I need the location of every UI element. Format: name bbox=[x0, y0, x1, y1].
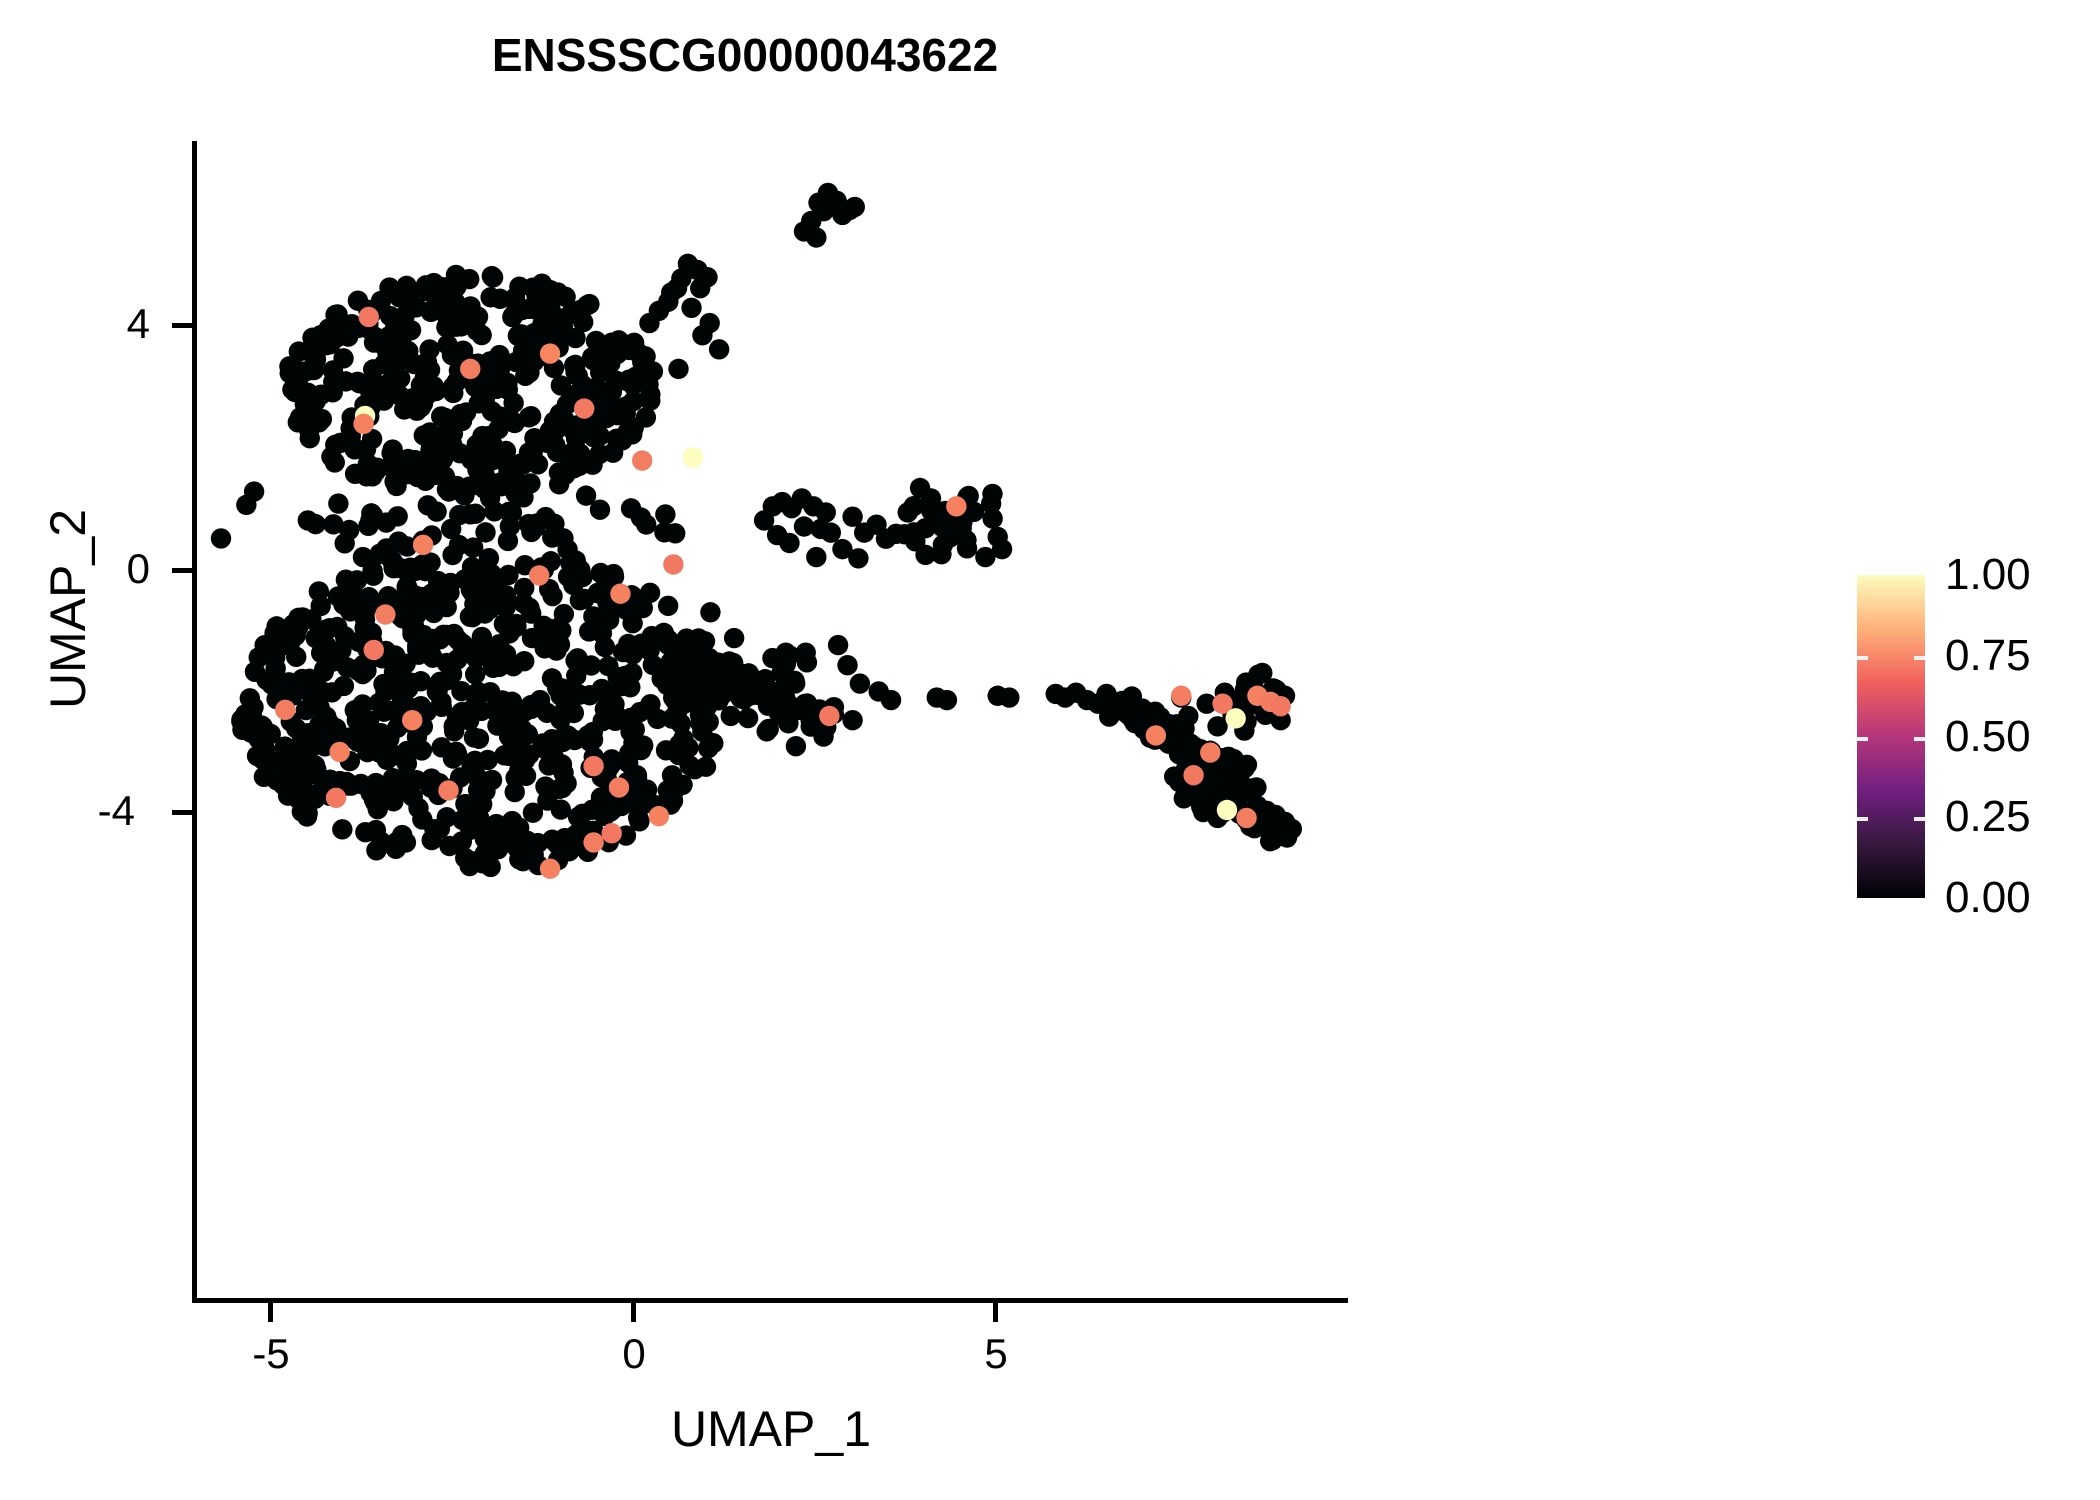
scatter-point bbox=[430, 672, 450, 692]
scatter-point bbox=[933, 535, 953, 555]
scatter-point bbox=[848, 548, 868, 568]
colorbar-tick-mark bbox=[1857, 737, 1868, 741]
scatter-point bbox=[607, 705, 627, 725]
scatter-point bbox=[702, 733, 722, 753]
scatter-point bbox=[1207, 716, 1227, 736]
scatter-point bbox=[415, 471, 435, 491]
scatter-point-highlighted bbox=[326, 788, 346, 808]
scatter-point bbox=[363, 505, 383, 525]
scatter-point bbox=[273, 775, 293, 795]
y-axis-ticks bbox=[172, 326, 194, 813]
scatter-point bbox=[325, 305, 345, 325]
scatter-point-highlighted bbox=[1183, 765, 1203, 785]
scatter-point bbox=[624, 333, 644, 353]
scatter-point bbox=[319, 618, 339, 638]
scatter-point-highlighted bbox=[438, 780, 458, 800]
scatter-point bbox=[447, 706, 467, 726]
scatter-point bbox=[850, 673, 870, 693]
scatter-point bbox=[513, 487, 533, 507]
colorbar-tick-mark bbox=[1857, 817, 1868, 821]
scatter-point bbox=[813, 201, 833, 221]
scatter-point bbox=[392, 327, 412, 347]
scatter-point bbox=[626, 366, 646, 386]
y-tick-label-4: 4 bbox=[60, 300, 150, 348]
scatter-point bbox=[409, 739, 429, 759]
scatter-point bbox=[465, 664, 485, 684]
scatter-point bbox=[557, 539, 577, 559]
scatter-point bbox=[411, 397, 431, 417]
scatter-point bbox=[412, 554, 432, 574]
scatter-point bbox=[549, 321, 569, 341]
scatter-point bbox=[658, 596, 678, 616]
scatter-point bbox=[363, 359, 383, 379]
x-tick-label-minus5: -5 bbox=[211, 1330, 331, 1378]
scatter-point bbox=[364, 789, 384, 809]
scatter-point-highlighted bbox=[1217, 800, 1237, 820]
scatter-point bbox=[552, 778, 572, 798]
scatter-point bbox=[637, 779, 657, 799]
scatter-point bbox=[245, 662, 265, 682]
scatter-point bbox=[419, 339, 439, 359]
scatter-point bbox=[738, 708, 758, 728]
scatter-point bbox=[439, 836, 459, 856]
scatter-point bbox=[797, 652, 817, 672]
scatter-point bbox=[505, 768, 525, 788]
scatter-point bbox=[591, 787, 611, 807]
scatter-point bbox=[316, 636, 336, 656]
scatter-point bbox=[679, 680, 699, 700]
scatter-point bbox=[452, 810, 472, 830]
scatter-point-highlighted bbox=[353, 414, 373, 434]
scatter-point bbox=[665, 523, 685, 543]
scatter-point bbox=[842, 710, 862, 730]
scatter-point bbox=[754, 510, 774, 530]
scatter-point bbox=[358, 454, 378, 474]
scatter-point bbox=[513, 851, 533, 871]
scatter-point bbox=[316, 327, 336, 347]
x-tick-label-0: 0 bbox=[574, 1330, 694, 1378]
scatter-point bbox=[468, 682, 488, 702]
scatter-point bbox=[332, 819, 352, 839]
scatter-point bbox=[498, 379, 518, 399]
scatter-point bbox=[462, 851, 482, 871]
scatter-point bbox=[313, 682, 333, 702]
scatter-point bbox=[530, 690, 550, 710]
scatter-point bbox=[467, 459, 487, 479]
scatter-point bbox=[302, 764, 322, 784]
scatter-point-highlighted bbox=[364, 640, 384, 660]
scatter-point bbox=[482, 401, 502, 421]
scatter-point bbox=[636, 407, 656, 427]
scatter-point bbox=[502, 307, 522, 327]
scatter-point bbox=[261, 724, 281, 744]
scatter-point bbox=[528, 833, 548, 853]
scatter-point bbox=[340, 431, 360, 451]
scatter-point bbox=[570, 590, 590, 610]
scatter-point bbox=[373, 674, 393, 694]
scatter-point bbox=[545, 435, 565, 455]
scatter-point-highlighted bbox=[583, 756, 603, 776]
scatter-point bbox=[999, 687, 1019, 707]
scatter-point bbox=[387, 506, 407, 526]
scatter-point bbox=[364, 332, 384, 352]
scatter-point bbox=[606, 370, 626, 390]
scatter-point-highlighted bbox=[358, 307, 378, 327]
colorbar-tick-mark bbox=[1914, 737, 1925, 741]
scatter-point bbox=[526, 286, 546, 306]
scatter-point bbox=[303, 728, 323, 748]
scatter-point bbox=[390, 385, 410, 405]
scatter-point bbox=[298, 510, 318, 530]
scatter-point bbox=[806, 227, 826, 247]
scatter-point bbox=[570, 654, 590, 674]
colorbar-legend: 1.00 0.75 0.50 0.25 0.00 bbox=[1857, 575, 2097, 905]
scatter-point bbox=[488, 839, 508, 859]
scatter-point bbox=[602, 749, 622, 769]
scatter-point bbox=[786, 736, 806, 756]
scatter-point bbox=[708, 690, 728, 710]
scatter-point bbox=[643, 655, 663, 675]
scatter-point bbox=[460, 504, 480, 524]
scatter-point bbox=[494, 614, 514, 634]
scatter-point bbox=[383, 282, 403, 302]
scatter-point bbox=[424, 273, 444, 293]
scatter-point bbox=[448, 630, 468, 650]
y-axis-title: UMAP_2 bbox=[39, 479, 97, 739]
scatter-point bbox=[424, 819, 444, 839]
scatter-point bbox=[499, 726, 519, 746]
scatter-point bbox=[572, 567, 592, 587]
scatter-point bbox=[334, 676, 354, 696]
scatter-point bbox=[549, 474, 569, 494]
y-tick-label-minus4: -4 bbox=[45, 787, 135, 835]
scatter-point bbox=[469, 729, 489, 749]
scatter-point bbox=[898, 502, 918, 522]
scatter-point bbox=[386, 839, 406, 859]
x-tick-label-5: 5 bbox=[936, 1330, 1056, 1378]
scatter-point-highlighted bbox=[583, 832, 603, 852]
scatter-point-highlighted bbox=[946, 496, 966, 516]
scatter-point-highlighted bbox=[540, 343, 560, 363]
legend-label-1-00: 1.00 bbox=[1945, 550, 2031, 600]
scatter-point bbox=[635, 635, 655, 655]
scatter-point bbox=[639, 313, 659, 333]
scatter-point-highlighted bbox=[574, 398, 594, 418]
scatter-point bbox=[328, 493, 348, 513]
scatter-point bbox=[471, 325, 491, 345]
scatter-point bbox=[672, 775, 692, 795]
scatter-point bbox=[280, 631, 300, 651]
scatter-point bbox=[355, 822, 375, 842]
scatter-point bbox=[700, 602, 720, 622]
scatter-point bbox=[573, 312, 593, 332]
scatter-point bbox=[795, 694, 815, 714]
scatter-point-highlighted bbox=[275, 700, 295, 720]
scatter-point bbox=[389, 782, 409, 802]
scatter-point bbox=[544, 747, 564, 767]
scatter-point bbox=[304, 360, 324, 380]
scatter-point bbox=[619, 743, 639, 763]
scatter-point bbox=[564, 355, 584, 375]
scatter-point bbox=[410, 636, 430, 656]
scatter-point bbox=[414, 425, 434, 445]
scatter-point bbox=[449, 535, 469, 555]
scatter-point bbox=[669, 745, 689, 765]
scatter-point bbox=[828, 635, 848, 655]
scatter-point bbox=[622, 424, 642, 444]
scatter-point-highlighted bbox=[649, 806, 669, 826]
scatter-point bbox=[349, 703, 369, 723]
colorbar-tick-mark bbox=[1914, 656, 1925, 660]
scatter-point bbox=[480, 351, 500, 371]
scatter-point bbox=[806, 547, 826, 567]
scatter-point bbox=[837, 655, 857, 675]
scatter-point bbox=[505, 288, 525, 308]
scatter-point bbox=[601, 333, 621, 353]
scatter-point-highlighted bbox=[402, 710, 422, 730]
scatter-point bbox=[779, 533, 799, 553]
scatter-point bbox=[776, 642, 796, 662]
y-axis-title-text: UMAP_2 bbox=[40, 509, 96, 709]
x-axis-ticks bbox=[271, 1300, 996, 1322]
scatter-point bbox=[408, 798, 428, 818]
scatter-point bbox=[443, 383, 463, 403]
scatter-point bbox=[590, 500, 610, 520]
scatter-point bbox=[244, 481, 264, 501]
scatter-point bbox=[320, 769, 340, 789]
scatter-point bbox=[333, 348, 353, 368]
scatter-point bbox=[555, 698, 575, 718]
scatter-point bbox=[488, 419, 508, 439]
scatter-point bbox=[759, 719, 779, 739]
scatter-point-highlighted bbox=[683, 447, 703, 467]
scatter-point bbox=[845, 197, 865, 217]
scatter-point bbox=[599, 352, 619, 372]
scatter-point bbox=[468, 780, 488, 800]
scatter-point bbox=[681, 298, 701, 318]
scatter-point bbox=[477, 564, 497, 584]
scatter-point bbox=[1265, 805, 1285, 825]
scatter-point bbox=[758, 695, 778, 715]
scatter-point bbox=[386, 745, 406, 765]
scatter-point bbox=[289, 341, 309, 361]
scatter-point-highlighted bbox=[1236, 808, 1256, 828]
scatter-point bbox=[325, 452, 345, 472]
scatter-point-highlighted bbox=[632, 450, 652, 470]
scatter-point bbox=[328, 586, 348, 606]
scatter-point-highlighted bbox=[529, 565, 549, 585]
scatter-point bbox=[1221, 782, 1241, 802]
scatter-point bbox=[724, 628, 744, 648]
scatter-point bbox=[739, 663, 759, 683]
scatter-point bbox=[411, 587, 431, 607]
scatter-point-highlighted bbox=[609, 777, 629, 797]
scatter-point bbox=[442, 434, 462, 454]
scatter-point bbox=[458, 569, 478, 589]
scatter-point bbox=[297, 803, 317, 823]
scatter-point bbox=[668, 359, 688, 379]
x-axis-title-text: UMAP_1 bbox=[671, 1401, 871, 1457]
scatter-point-highlighted bbox=[663, 554, 683, 574]
scatter-point bbox=[565, 730, 585, 750]
scatter-point-highlighted bbox=[1171, 686, 1191, 706]
scatter-point bbox=[443, 748, 463, 768]
scatter-point bbox=[937, 690, 957, 710]
scatter-point bbox=[440, 573, 460, 593]
scatter-point-highlighted bbox=[375, 604, 395, 624]
scatter-point bbox=[381, 443, 401, 463]
scatter-point bbox=[1246, 777, 1266, 797]
scatter-point-highlighted bbox=[540, 858, 560, 878]
scatter-point bbox=[288, 375, 308, 395]
scatter-point bbox=[578, 422, 598, 442]
legend-label-0-00: 0.00 bbox=[1945, 873, 2031, 923]
scatter-point bbox=[695, 631, 715, 651]
scatter-point bbox=[370, 544, 390, 564]
scatter-point-highlighted bbox=[819, 706, 839, 726]
legend-label-0-50: 0.50 bbox=[1945, 712, 2031, 762]
scatter-point-highlighted bbox=[460, 359, 480, 379]
scatter-point bbox=[538, 618, 558, 638]
scatter-point bbox=[1218, 747, 1238, 767]
scatter-point bbox=[655, 504, 675, 524]
scatter-point bbox=[519, 599, 539, 619]
scatter-point bbox=[295, 400, 315, 420]
scatter-point bbox=[709, 339, 729, 359]
scatter-point bbox=[816, 502, 836, 522]
scatter-point-highlighted bbox=[329, 742, 349, 762]
scatter-point-highlighted bbox=[1146, 725, 1166, 745]
scatter-point bbox=[437, 653, 457, 673]
scatter-point bbox=[881, 690, 901, 710]
scatter-point bbox=[975, 547, 995, 567]
scatter-point bbox=[988, 527, 1008, 547]
scatter-point bbox=[647, 709, 667, 729]
scatter-point bbox=[436, 317, 456, 337]
scatter-points-layer bbox=[211, 183, 1302, 879]
scatter-point bbox=[444, 476, 464, 496]
scatter-point bbox=[522, 443, 542, 463]
legend-label-0-75: 0.75 bbox=[1945, 631, 2031, 681]
scatter-point bbox=[982, 484, 1002, 504]
scatter-point bbox=[905, 531, 925, 551]
scatter-point bbox=[337, 657, 357, 677]
scatter-point bbox=[577, 295, 597, 315]
scatter-point bbox=[266, 616, 286, 636]
scatter-point bbox=[265, 658, 285, 678]
scatter-point bbox=[452, 411, 472, 431]
scatter-point bbox=[547, 678, 567, 698]
scatter-point bbox=[489, 634, 509, 654]
scatter-point bbox=[460, 296, 480, 316]
scatter-point-highlighted bbox=[1225, 708, 1245, 728]
scatter-point bbox=[564, 458, 584, 478]
scatter-point bbox=[243, 697, 263, 717]
scatter-point bbox=[498, 460, 518, 480]
scatter-point bbox=[599, 610, 619, 630]
scatter-point bbox=[365, 733, 385, 753]
scatter-point bbox=[526, 513, 546, 533]
scatter-point bbox=[211, 528, 231, 548]
scatter-point bbox=[515, 366, 535, 386]
scatter-point-highlighted bbox=[1270, 696, 1290, 716]
scatter-point bbox=[628, 808, 648, 828]
scatter-point bbox=[957, 538, 977, 558]
scatter-point bbox=[453, 341, 473, 361]
scatter-point-highlighted bbox=[1200, 742, 1220, 762]
scatter-point bbox=[491, 821, 511, 841]
scatter-point bbox=[483, 658, 503, 678]
scatter-point bbox=[692, 325, 712, 345]
scatter-point bbox=[678, 254, 698, 274]
scatter-point bbox=[499, 502, 519, 522]
scatter-point bbox=[728, 684, 748, 704]
scatter-point bbox=[673, 635, 693, 655]
scatter-point bbox=[699, 648, 719, 668]
scatter-point-highlighted bbox=[413, 535, 433, 555]
x-axis-title: UMAP_1 bbox=[194, 1400, 1348, 1458]
scatter-point bbox=[1193, 800, 1213, 820]
scatter-point bbox=[621, 498, 641, 518]
scatter-point bbox=[631, 593, 651, 613]
scatter-point bbox=[398, 678, 418, 698]
scatter-point bbox=[292, 678, 312, 698]
scatter-point bbox=[418, 495, 438, 515]
colorbar-ticks bbox=[1857, 575, 1925, 898]
colorbar-tick-mark bbox=[1857, 656, 1868, 660]
scatter-point bbox=[513, 341, 533, 361]
scatter-point bbox=[555, 410, 575, 430]
umap-figure: ENSSSCG00000043622 4 0 -4 -5 0 5 UMAP_2 … bbox=[0, 0, 2100, 1500]
scatter-point bbox=[347, 589, 367, 609]
scatter-point bbox=[592, 679, 612, 699]
scatter-point bbox=[405, 450, 425, 470]
scatter-point bbox=[921, 488, 941, 508]
scatter-point bbox=[775, 688, 795, 708]
scatter-point bbox=[630, 702, 650, 722]
scatter-point bbox=[480, 380, 500, 400]
scatter-point bbox=[625, 719, 645, 739]
scatter-point-highlighted bbox=[602, 823, 622, 843]
scatter-point bbox=[667, 278, 687, 298]
scatter-point bbox=[1128, 701, 1148, 721]
scatter-point bbox=[982, 508, 1002, 528]
scatter-point bbox=[480, 488, 500, 508]
scatter-point bbox=[821, 522, 841, 542]
colorbar-tick-mark bbox=[1914, 817, 1925, 821]
scatter-point bbox=[483, 267, 503, 287]
scatter-point bbox=[544, 514, 564, 534]
legend-label-0-25: 0.25 bbox=[1945, 792, 2031, 842]
scatter-point bbox=[555, 287, 575, 307]
scatter-point bbox=[475, 603, 495, 623]
scatter-point bbox=[339, 520, 359, 540]
scatter-point bbox=[421, 768, 441, 788]
plot-canvas bbox=[0, 0, 2100, 1500]
scatter-point-highlighted bbox=[610, 584, 630, 604]
scatter-point bbox=[690, 278, 710, 298]
